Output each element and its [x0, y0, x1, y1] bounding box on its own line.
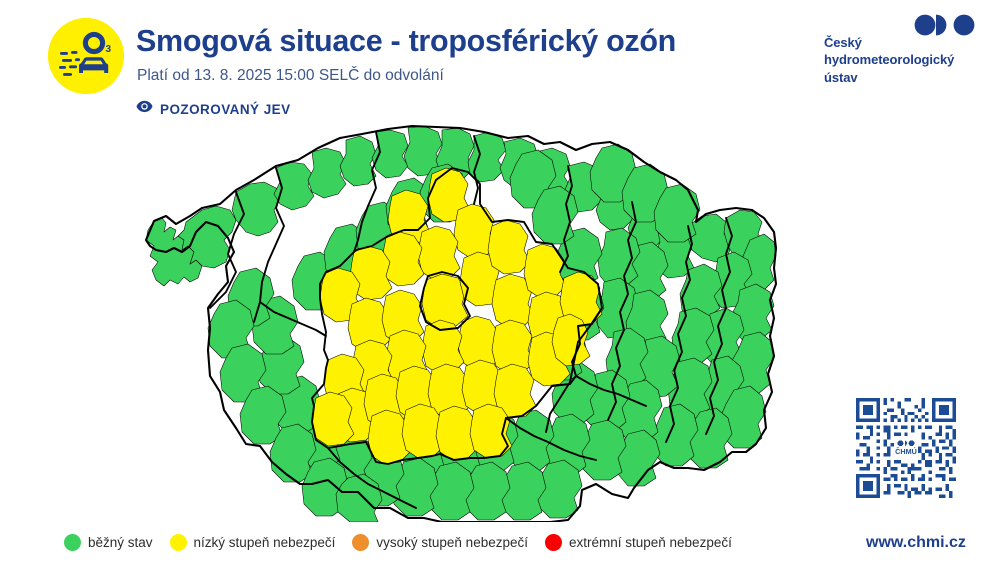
- svg-text:3: 3: [106, 44, 112, 55]
- legend-item-low: nízký stupeň nebezpečí: [170, 534, 336, 551]
- phenomenon-row: POZOROVANÝ JEV: [136, 100, 291, 118]
- legend-label-normal: běžný stav: [88, 535, 153, 550]
- page-title: Smogová situace - troposférický ozón: [136, 24, 676, 59]
- page-header: 3 Smogová situace - troposférický ozón P…: [0, 0, 1000, 130]
- legend-dot-normal: [64, 534, 81, 551]
- legend-dot-low: [170, 534, 187, 551]
- chmi-line-3: ústav: [824, 69, 954, 86]
- legend-item-extreme: extrémní stupeň nebezpečí: [545, 534, 732, 551]
- legend-label-low: nízký stupeň nebezpečí: [194, 535, 336, 550]
- chmi-logo-text: Český hydrometeorologický ústav: [824, 34, 954, 86]
- eye-icon: [136, 100, 153, 118]
- legend-label-high: vysoký stupeň nebezpečí: [376, 535, 528, 550]
- website-url[interactable]: www.chmi.cz: [866, 534, 966, 552]
- legend-dot-extreme: [545, 534, 562, 551]
- svg-text:ČHMÚ: ČHMÚ: [895, 447, 917, 456]
- chmi-line-2: hydrometeorologický: [824, 51, 954, 68]
- legend-dot-high: [352, 534, 369, 551]
- chmi-line-1: Český: [824, 34, 954, 51]
- chmi-logo: Český hydrometeorologický ústav: [796, 10, 992, 88]
- map-districts: [146, 126, 776, 522]
- qr-code[interactable]: ČHMÚ: [856, 398, 956, 498]
- legend-item-normal: běžný stav: [64, 534, 153, 551]
- legend-item-high: vysoký stupeň nebezpečí: [352, 534, 528, 551]
- ozone-car-smog-icon: 3: [48, 18, 124, 94]
- phenomenon-label: POZOROVANÝ JEV: [160, 102, 291, 117]
- legend-label-extreme: extrémní stupeň nebezpečí: [569, 535, 732, 550]
- legend: běžný stav nízký stupeň nebezpečí vysoký…: [64, 530, 749, 554]
- czech-republic-districts-map[interactable]: [140, 122, 780, 522]
- validity-subtitle: Platí od 13. 8. 2025 15:00 SELČ do odvol…: [137, 67, 444, 85]
